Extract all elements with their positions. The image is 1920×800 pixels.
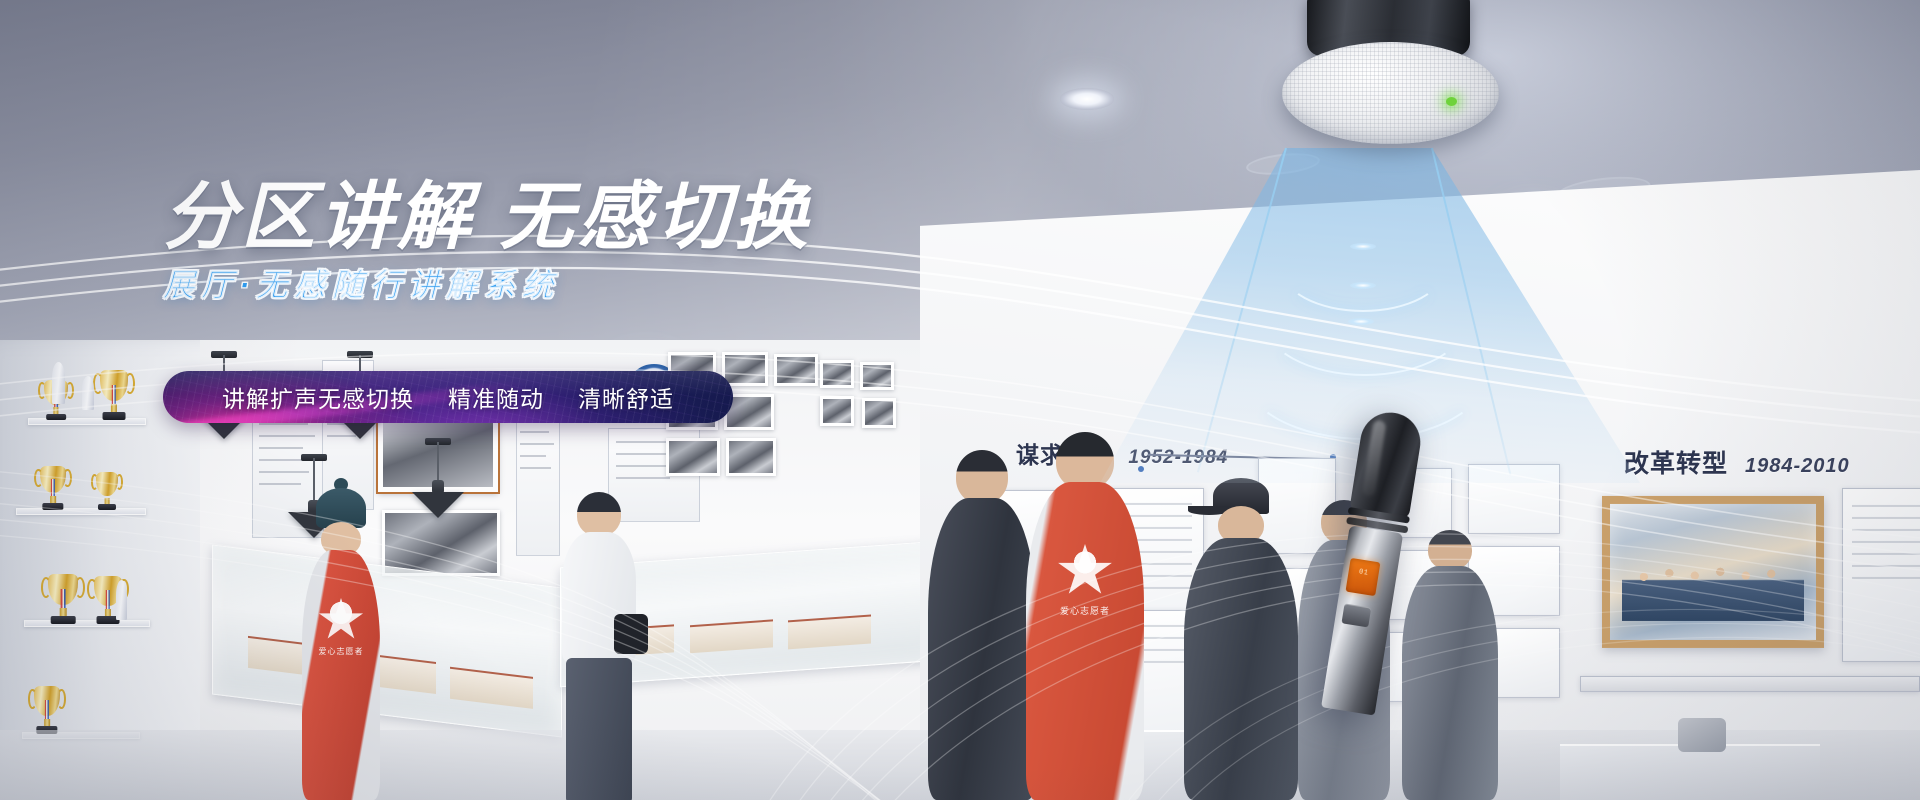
vest-badge-text-2: 爱心志愿者 (1060, 604, 1110, 617)
pendant-lamp (412, 442, 464, 528)
sound-wave-glow-2 (1350, 282, 1376, 289)
trophy (34, 686, 60, 734)
mic-display: 01 (1345, 558, 1380, 596)
promo-banner: 谋求发展 1952-1984 (0, 0, 1920, 800)
exhibit-photo (666, 438, 720, 476)
exhibit-text-panel (516, 406, 560, 556)
award-statuette (116, 580, 127, 620)
trophy (40, 466, 66, 510)
feature-item-3: 清晰舒适 (578, 380, 674, 414)
visitor-beanie: 爱心志愿者 (300, 488, 382, 800)
history-years-text: 1984-2010 (1745, 455, 1850, 477)
award-statuette (82, 376, 94, 410)
recessed-downlight (1060, 88, 1114, 110)
page-subtitle: 展厅·无感随行讲解系统 (163, 260, 883, 306)
visitor-white-shirt (560, 492, 638, 800)
mic-button[interactable] (1341, 603, 1371, 627)
vest-badge-text: 爱心志愿者 (319, 646, 364, 657)
banner-copy: 分区讲解 无感切换 展厅·无感随行讲解系统 讲解扩声无感切换 精准随动 清晰舒适 (163, 178, 883, 306)
exhibition-hall-photo: 谋求发展 1952-1984 (0, 380, 1920, 800)
mic-head (1349, 408, 1425, 520)
wall-ledge (1580, 676, 1920, 692)
speaker-grille-mesh (1282, 42, 1499, 144)
feature-pill: 讲解扩声无感切换 精准随动 清晰舒适 (163, 371, 733, 423)
exhibit-photo (860, 362, 894, 390)
visitor-red-vest: 爱心志愿者 (1024, 432, 1146, 800)
speaker-led-indicator (1446, 97, 1457, 106)
sound-wave-glow-1 (1350, 243, 1376, 250)
exhibit-artifact (1678, 718, 1726, 752)
trophy (48, 574, 78, 624)
visitor-cap (1182, 478, 1300, 800)
exhibit-photo (820, 360, 854, 388)
history-text-board (1842, 488, 1920, 662)
history-section-title-2: 改革转型 1984-2010 (1624, 444, 1850, 480)
award-statuette (52, 362, 65, 404)
feature-item-1: 讲解扩声无感切换 (222, 380, 414, 414)
shoulder-bag (614, 614, 648, 654)
exhibit-plinth (1560, 744, 1820, 800)
history-painting (1602, 496, 1824, 648)
history-title-text: 改革转型 (1624, 450, 1728, 478)
feature-item-2: 精准随动 (448, 380, 544, 414)
visitor-dark-jacket (926, 450, 1038, 800)
page-title: 分区讲解 无感切换 (163, 178, 883, 256)
mic-display-text: 01 (1348, 567, 1379, 580)
trophy-shelf (24, 620, 150, 627)
feature-list: 讲解扩声无感切换 精准随动 清晰舒适 (222, 380, 674, 414)
exhibit-photo (726, 438, 776, 476)
exhibit-photo (774, 354, 818, 386)
trophy-shelf (16, 508, 146, 515)
exhibit-photo (820, 396, 854, 426)
sound-wave-glow-3 (1348, 318, 1374, 325)
visitor-far-right (1400, 530, 1500, 800)
exhibit-photo (862, 398, 896, 428)
trophy (100, 370, 128, 420)
trophy (96, 472, 118, 510)
